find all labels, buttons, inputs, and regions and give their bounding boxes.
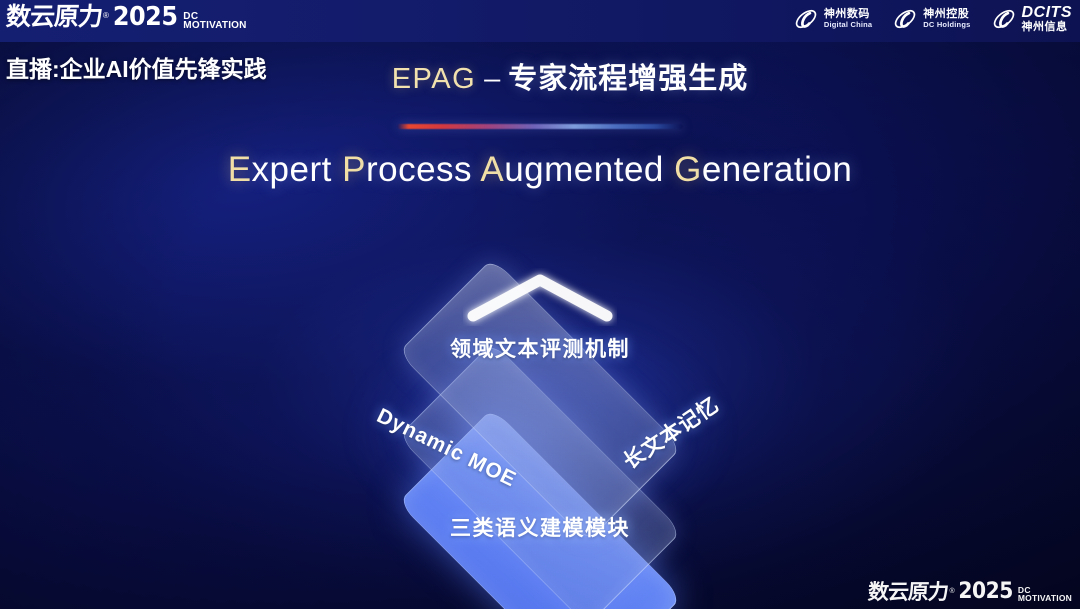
subtitle-part-7: eneration bbox=[702, 150, 852, 189]
logo-dcits[interactable]: DCITS 神州信息 bbox=[991, 5, 1073, 33]
layer-bottom-label: 三类语义建模模块 bbox=[0, 512, 1080, 542]
logo-dc-holdings[interactable]: 神州控股 DC Holdings bbox=[892, 6, 970, 32]
watermark-dc-block: DC MOTIVATION bbox=[1018, 587, 1072, 603]
logo-en: Digital China bbox=[824, 21, 872, 29]
watermark-year: 2025 bbox=[958, 581, 1012, 603]
layer-middle-label-left: Dynamic MOE bbox=[373, 404, 520, 492]
header-bar: 数云原力 ® 2025 DC MOTIVATION 神州数码 Digital C… bbox=[0, 0, 1080, 42]
swoosh-icon bbox=[793, 6, 819, 32]
subtitle-part-0: E bbox=[228, 150, 252, 189]
subtitle-part-4: A bbox=[480, 150, 504, 189]
subtitle-part-2: P bbox=[342, 150, 366, 189]
watermark-motivation: MOTIVATION bbox=[1018, 595, 1072, 603]
footer-watermark-logo: 数云原力 ® 2025 DC MOTIVATION bbox=[868, 581, 1072, 603]
subtitle-part-5: ugmented bbox=[504, 150, 674, 189]
logo-digital-china-text: 神州数码 Digital China bbox=[824, 9, 872, 28]
event-logo-year: 2025 bbox=[113, 4, 178, 30]
title-acronym: EPAG bbox=[392, 63, 476, 95]
logo-dc-holdings-text: 神州控股 DC Holdings bbox=[923, 9, 970, 28]
title-chinese: 专家流程增强生成 bbox=[508, 63, 748, 95]
watermark-registered-mark: ® bbox=[949, 588, 954, 595]
layer-top-label: 领域文本评测机制 bbox=[0, 333, 1080, 363]
page-subtitle: Expert Process Augmented Generation bbox=[0, 150, 1080, 190]
sponsor-logos: 神州数码 Digital China 神州控股 DC Holdings DCIT… bbox=[793, 5, 1072, 33]
event-logo: 数云原力 ® 2025 DC MOTIVATION bbox=[6, 4, 247, 30]
subtitle-part-3: rocess bbox=[366, 150, 480, 189]
live-stream-title: 直播:企业AI价值先锋实践 bbox=[6, 50, 267, 84]
event-logo-cn: 数云原力 bbox=[5, 5, 103, 30]
logo-en: DCITS bbox=[1022, 5, 1073, 22]
swoosh-icon bbox=[892, 6, 918, 32]
watermark-cn: 数云原力 bbox=[868, 582, 949, 603]
logo-digital-china[interactable]: 神州数码 Digital China bbox=[793, 6, 872, 32]
layer-middle-label-right: 长文本记忆 bbox=[617, 389, 725, 475]
logo-en: DC Holdings bbox=[923, 21, 970, 29]
gradient-divider bbox=[397, 124, 683, 129]
event-logo-motivation: MOTIVATION bbox=[183, 21, 246, 30]
swoosh-icon bbox=[991, 6, 1017, 32]
logo-dcits-text: DCITS 神州信息 bbox=[1022, 5, 1073, 33]
subtitle-part-1: xpert bbox=[252, 150, 343, 189]
event-logo-dc-block: DC MOTIVATION bbox=[183, 12, 246, 30]
title-dash: – bbox=[484, 63, 500, 95]
logo-cn: 神州信息 bbox=[1022, 22, 1073, 34]
registered-mark: ® bbox=[103, 12, 109, 20]
subtitle-part-6: G bbox=[674, 150, 702, 189]
